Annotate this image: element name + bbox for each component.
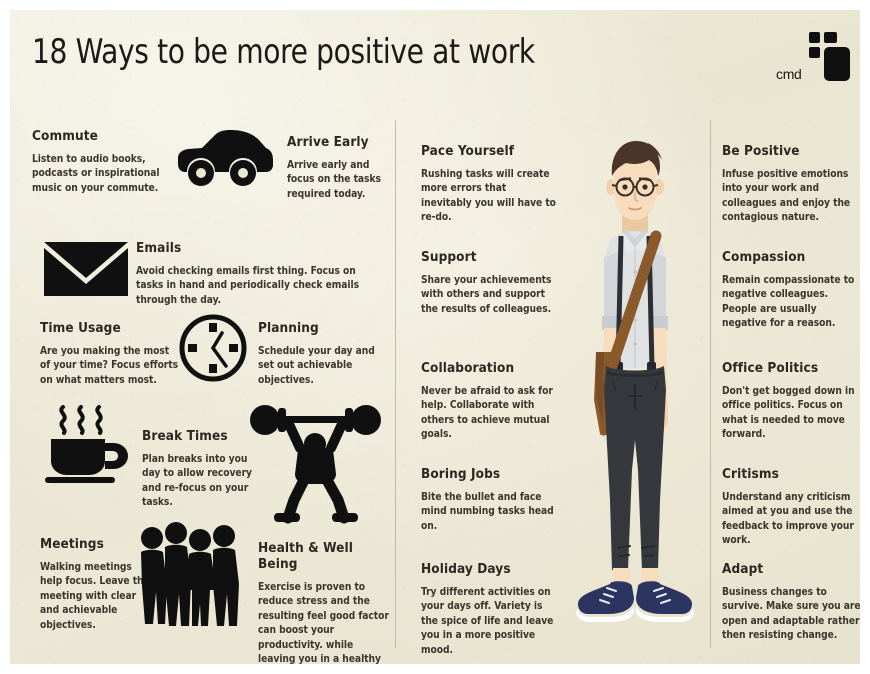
section-title: Collaboration xyxy=(421,360,556,376)
logo-square-icon xyxy=(824,47,850,81)
section-title: Commute xyxy=(32,128,182,144)
logo-square-icon xyxy=(809,32,820,43)
logo-text: cmd xyxy=(776,66,802,82)
section-adapt: Adapt Business changes to survive. Make … xyxy=(722,561,860,644)
section-title: Health & Well Being xyxy=(258,540,393,572)
clock-icon xyxy=(178,313,248,383)
section-body: Business changes to survive. Make sure y… xyxy=(722,586,860,644)
coffee-cup-icon xyxy=(43,403,135,485)
section-compassion: Compassion Remain compassionate to negat… xyxy=(722,249,860,332)
section-support: Support Share your achievements with oth… xyxy=(421,249,556,317)
section-body: Arrive early and focus on the tasks requ… xyxy=(287,159,392,202)
section-title: Be Positive xyxy=(722,143,857,159)
people-group-icon xyxy=(132,520,244,638)
section-title: Critisms xyxy=(722,466,860,482)
section-title: Office Politics xyxy=(722,360,860,376)
section-body: Don't get bogged down in office politics… xyxy=(722,385,860,443)
section-body: Avoid checking emails first thing. Focus… xyxy=(136,265,368,308)
infographic-poster: 18 Ways to be more positive at work cmd … xyxy=(10,10,860,664)
section-title: Emails xyxy=(136,240,368,256)
section-commute: Commute Listen to audio books, podcasts … xyxy=(32,128,182,196)
logo-square-icon xyxy=(809,47,820,58)
page-title: 18 Ways to be more positive at work xyxy=(32,32,535,72)
section-collaboration: Collaboration Never be afraid to ask for… xyxy=(421,360,556,443)
section-body: Understand any criticism aimed at you an… xyxy=(722,491,860,549)
section-title: Support xyxy=(421,249,556,265)
section-title: Pace Yourself xyxy=(421,143,556,159)
car-icon xyxy=(175,128,275,190)
section-time-usage: Time Usage Are you making the most of yo… xyxy=(40,320,180,388)
section-title: Adapt xyxy=(722,561,860,577)
section-body: Remain compassionate to negative colleag… xyxy=(722,274,860,332)
standing-man-illustration xyxy=(550,140,720,640)
section-title: Arrive Early xyxy=(287,134,392,150)
section-boring-jobs: Boring Jobs Bite the bullet and face min… xyxy=(421,466,556,534)
section-title: Planning xyxy=(258,320,393,336)
section-planning: Planning Schedule your day and set out a… xyxy=(258,320,393,388)
section-title: Compassion xyxy=(722,249,860,265)
section-emails: Emails Avoid checking emails first thing… xyxy=(136,240,368,308)
section-body: Schedule your day and set out achievable… xyxy=(258,345,393,388)
section-body: Bite the bullet and face mind numbing ta… xyxy=(421,491,556,534)
envelope-icon xyxy=(42,238,130,300)
column-divider-left xyxy=(395,120,396,648)
cmd-logo: cmd xyxy=(776,32,842,84)
section-title: Holiday Days xyxy=(421,561,561,577)
section-title: Boring Jobs xyxy=(421,466,556,482)
weightlifter-icon xyxy=(248,400,383,525)
section-body: Infuse positive emotions into your work … xyxy=(722,168,857,226)
section-holiday-days: Holiday Days Try different activities on… xyxy=(421,561,561,658)
logo-square-icon xyxy=(824,32,837,43)
section-title: Time Usage xyxy=(40,320,180,336)
section-be-positive: Be Positive Infuse positive emotions int… xyxy=(722,143,857,226)
section-body: Never be afraid to ask for help. Collabo… xyxy=(421,385,556,443)
section-body: Listen to audio books, podcasts or inspi… xyxy=(32,153,182,196)
section-pace-yourself: Pace Yourself Rushing tasks will create … xyxy=(421,143,556,226)
section-arrive-early: Arrive Early Arrive early and focus on t… xyxy=(287,134,392,202)
section-critisms: Critisms Understand any criticism aimed … xyxy=(722,466,860,549)
section-body: Are you making the most of your time? Fo… xyxy=(40,345,180,388)
section-body: Share your achievements with others and … xyxy=(421,274,556,317)
section-health-well-being: Health & Well Being Exercise is proven t… xyxy=(258,540,393,664)
section-body: Exercise is proven to reduce stress and … xyxy=(258,581,393,664)
section-body: Try different activities on your days of… xyxy=(421,586,561,658)
section-office-politics: Office Politics Don't get bogged down in… xyxy=(722,360,860,443)
section-body: Rushing tasks will create more errors th… xyxy=(421,168,556,226)
